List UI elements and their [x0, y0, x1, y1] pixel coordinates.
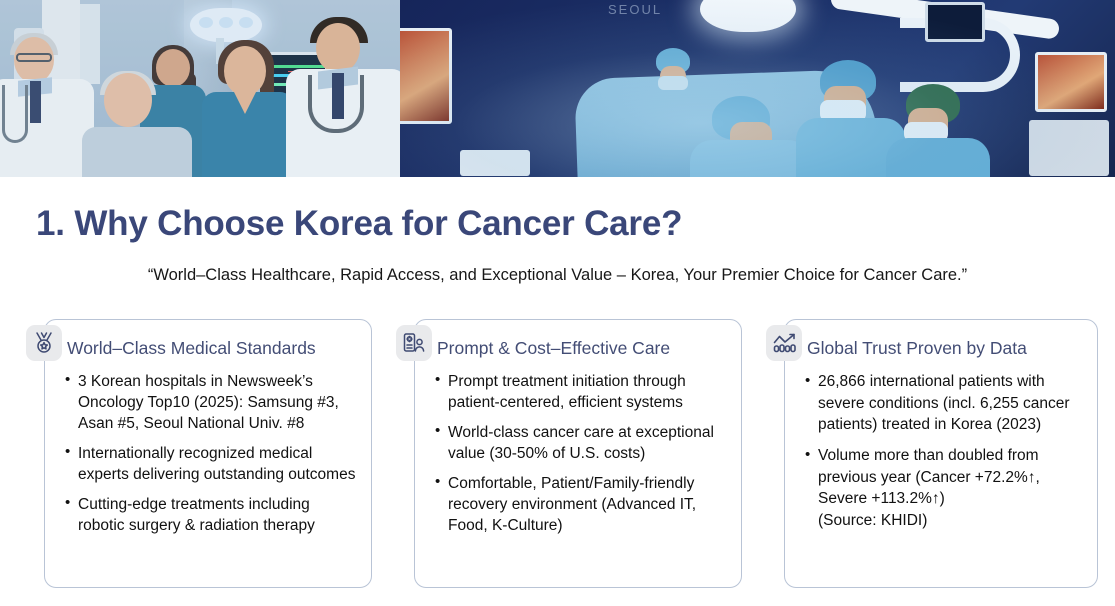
card-bullet-list: Prompt treatment initiation through pati…: [435, 371, 729, 537]
photo-tint-overlay: [0, 0, 400, 177]
card-bullet-list: 3 Korean hospitals in Newsweek’s Oncolog…: [65, 371, 359, 537]
list-item: 3 Korean hospitals in Newsweek’s Oncolog…: [65, 371, 359, 434]
list-item: 26,866 international patients with sever…: [805, 371, 1085, 436]
list-item: Prompt treatment initiation through pati…: [435, 371, 729, 413]
chart-trend-icon: [766, 325, 802, 361]
hero-photo-operating-room: SEOUL: [400, 0, 1115, 177]
page-title: 1. Why Choose Korea for Cancer Care?: [36, 204, 682, 244]
card-title: World–Class Medical Standards: [67, 338, 316, 359]
hero-photo-medical-team: [0, 0, 400, 177]
card-header: Global Trust Proven by Data: [807, 330, 1085, 366]
card-title: Global Trust Proven by Data: [807, 338, 1027, 359]
or-photo-tint-overlay: [400, 0, 1115, 177]
medal-icon: [26, 325, 62, 361]
card-global-trust-proven-by-data[interactable]: Global Trust Proven by Data 26,866 inter…: [784, 319, 1098, 588]
card-title: Prompt & Cost–Effective Care: [437, 338, 670, 359]
source-note: (Source: KHIDI): [805, 510, 1085, 532]
list-item: Internationally recognized medical exper…: [65, 443, 359, 485]
cards-row: World–Class Medical Standards 3 Korean h…: [0, 319, 1115, 588]
list-item: Comfortable, Patient/Family-friendly rec…: [435, 473, 729, 536]
page-subtitle: “World–Class Healthcare, Rapid Access, a…: [0, 266, 1115, 285]
card-header: World–Class Medical Standards: [67, 330, 359, 366]
card-prompt-cost-effective-care[interactable]: Prompt & Cost–Effective Care Prompt trea…: [414, 319, 742, 588]
list-item: World-class cancer care at exceptional v…: [435, 422, 729, 464]
card-bullet-list: 26,866 international patients with sever…: [805, 371, 1085, 510]
list-item: Volume more than doubled from previous y…: [805, 445, 1085, 510]
list-item: Cutting-edge treatments including roboti…: [65, 494, 359, 536]
card-world-class-medical-standards[interactable]: World–Class Medical Standards 3 Korean h…: [44, 319, 372, 588]
hero-banner: SEOUL: [0, 0, 1115, 177]
slide-content: 1. Why Choose Korea for Cancer Care? “Wo…: [0, 177, 1115, 606]
clinic-person-icon: [396, 325, 432, 361]
card-header: Prompt & Cost–Effective Care: [437, 330, 729, 366]
